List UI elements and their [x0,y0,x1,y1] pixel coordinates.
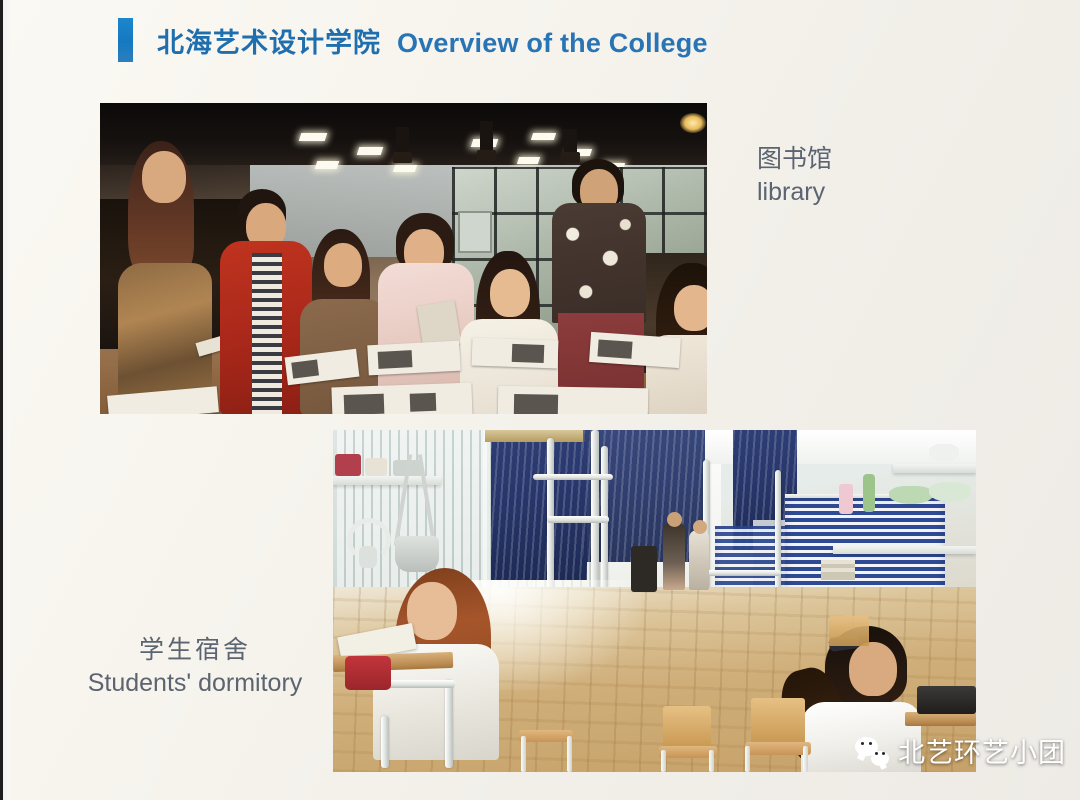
library-caption-cn: 图书馆 [757,143,832,176]
library-caption-en: library [757,176,832,209]
bunk-bed-rail [547,516,609,523]
dormitory-caption-en: Students' dormitory [70,667,320,700]
bunk-bed-rail [703,570,781,576]
dormitory-photo [333,430,976,772]
slide-left-edge-border [0,0,3,800]
dorm-shelf-bowl [929,444,959,462]
pendant-lamp-icon [396,127,409,153]
dorm-shelf-bowl [929,482,971,502]
dorm-hanging-bag [395,536,439,572]
dorm-chair [751,698,805,746]
pendant-lamp-icon [480,121,493,151]
dorm-distant-student [667,512,682,527]
ceiling-light-icon [357,147,384,155]
ceiling-light-icon [315,161,340,169]
dorm-chair [519,730,573,742]
dorm-shelf [833,546,976,554]
page-title: 北海艺术设计学院 Overview of the College [157,21,708,60]
library-wall-poster [458,211,492,253]
dorm-chair [829,616,869,646]
library-open-magazine [472,338,559,369]
slide-left-edge-soft [3,0,10,800]
library-caption: 图书馆 library [757,143,832,208]
watermark-text: 北艺环艺小团 [898,731,1066,770]
library-open-magazine [331,383,472,414]
dorm-chair [745,742,811,755]
page-title-en: Overview of the College [397,28,708,59]
accent-bar-icon [118,18,133,62]
bunk-bed-rail [533,474,613,480]
library-open-magazine [589,332,681,368]
dorm-stacked-books [821,560,855,580]
dormitory-caption: 学生宿舍 Students' dormitory [70,634,320,699]
dorm-shelf-bowl [889,486,933,504]
dorm-chair [663,706,711,750]
ceiling-light-icon [531,133,556,140]
dormitory-caption-cn: 学生宿舍 [70,634,320,667]
dorm-distant-student [693,520,707,534]
dorm-shelf-item [365,458,387,476]
headphones-icon [359,546,377,568]
dorm-shelf-item [335,454,361,476]
warm-lamp-glow-icon [680,113,706,133]
dorm-shelf [893,464,976,473]
library-photo [100,103,707,414]
slide-header: 北海艺术设计学院 Overview of the College [118,16,708,64]
dorm-desk [905,712,976,726]
ceiling-light-icon [393,165,417,172]
slide-canvas: 北海艺术设计学院 Overview of the College [0,0,1080,800]
dorm-corridor-cabinet [631,546,657,592]
dorm-desk-item [917,686,976,714]
ceiling-light-icon [517,157,540,164]
ceiling-light-icon [299,133,328,141]
wechat-icon [855,736,889,766]
dorm-distant-student [663,522,685,590]
dorm-bed-curtain [491,430,587,580]
dorm-bunk-board [485,430,593,442]
dorm-red-cushion [345,656,391,690]
pendant-lamp-icon [564,129,577,153]
page-title-cn: 北海艺术设计学院 [157,21,381,60]
dorm-distant-student [689,530,709,590]
library-open-magazine [367,341,460,376]
library-open-magazine [498,386,649,414]
dorm-shelf-item [839,484,853,514]
dorm-shelf-bottle [863,474,875,512]
watermark: 北艺环艺小团 [855,731,1066,770]
